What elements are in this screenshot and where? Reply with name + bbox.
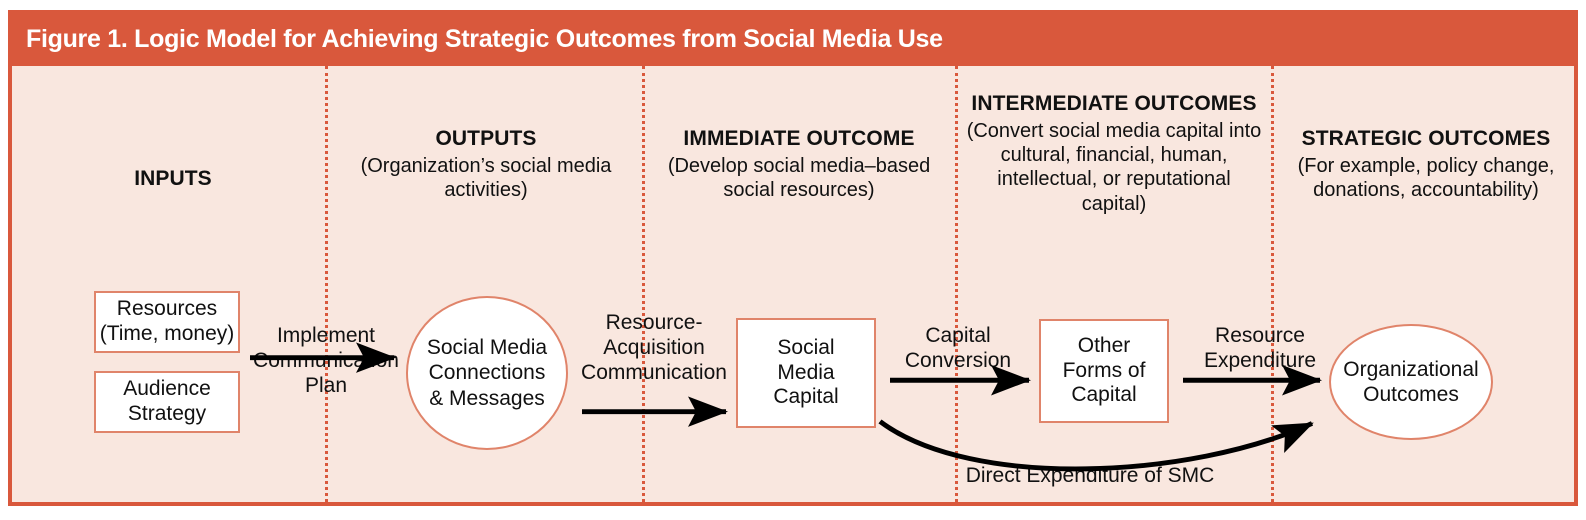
node-social-media-capital-label: Social Media Capital bbox=[738, 336, 874, 410]
edge-label-implement-plan: Implement Communication Plan bbox=[252, 324, 400, 398]
figure-title-bar: Figure 1. Logic Model for Achieving Stra… bbox=[12, 14, 1574, 66]
column-title-strategic: STRATEGIC OUTCOMES bbox=[1280, 126, 1572, 152]
edge-label-direct-expenditure: Direct Expenditure of SMC bbox=[942, 464, 1238, 488]
column-title-intermediate: INTERMEDIATE OUTCOMES bbox=[964, 91, 1264, 117]
node-social-media-capital: Social Media Capital bbox=[736, 318, 876, 428]
edge-label-resource-expenditure: Resource Expenditure bbox=[1188, 324, 1332, 374]
arrow-direct-expenditure bbox=[880, 421, 1312, 468]
node-social-media-connections: Social Media Connections & Messages bbox=[406, 296, 568, 450]
column-header-outputs: OUTPUTS (Organization’s social media act… bbox=[338, 126, 634, 202]
figure-panel: Figure 1. Logic Model for Achieving Stra… bbox=[8, 10, 1578, 506]
edge-label-capital-conversion: Capital Conversion bbox=[888, 324, 1028, 374]
node-audience-strategy: Audience Strategy bbox=[94, 371, 240, 433]
node-other-forms-of-capital: Other Forms of Capital bbox=[1039, 319, 1169, 423]
column-subtitle-outputs: (Organization’s social media activities) bbox=[338, 154, 634, 203]
column-subtitle-strategic: (For example, policy change, donations, … bbox=[1280, 154, 1572, 203]
node-resources: Resources (Time, money) bbox=[94, 291, 240, 353]
column-divider-4 bbox=[1271, 66, 1274, 502]
column-subtitle-intermediate: (Convert social media capital into cultu… bbox=[964, 119, 1264, 217]
column-header-strategic: STRATEGIC OUTCOMES (For example, policy … bbox=[1280, 126, 1572, 202]
edge-label-resource-acquisition: Resource- Acquisition Communication bbox=[578, 311, 730, 385]
node-organizational-outcomes-label: Organizational Outcomes bbox=[1327, 357, 1494, 407]
column-divider-3 bbox=[955, 66, 958, 502]
figure-canvas: INPUTS OUTPUTS (Organization’s social me… bbox=[12, 66, 1574, 502]
column-title-inputs: INPUTS bbox=[28, 166, 318, 192]
node-organizational-outcomes: Organizational Outcomes bbox=[1329, 324, 1493, 440]
column-header-immediate: IMMEDIATE OUTCOME (Develop social media–… bbox=[650, 126, 948, 202]
node-audience-strategy-label: Audience Strategy bbox=[96, 377, 238, 427]
column-subtitle-immediate: (Develop social media–based social resou… bbox=[650, 154, 948, 203]
node-resources-label: Resources (Time, money) bbox=[96, 297, 238, 347]
node-other-forms-of-capital-label: Other Forms of Capital bbox=[1041, 334, 1167, 408]
column-divider-1 bbox=[325, 66, 328, 502]
column-header-inputs: INPUTS bbox=[28, 166, 318, 194]
figure-root: Figure 1. Logic Model for Achieving Stra… bbox=[0, 0, 1586, 520]
node-social-media-connections-label: Social Media Connections & Messages bbox=[408, 335, 566, 411]
column-divider-2 bbox=[642, 66, 645, 502]
column-header-intermediate: INTERMEDIATE OUTCOMES (Convert social me… bbox=[964, 91, 1264, 216]
column-title-immediate: IMMEDIATE OUTCOME bbox=[650, 126, 948, 152]
column-title-outputs: OUTPUTS bbox=[338, 126, 634, 152]
figure-title: Figure 1. Logic Model for Achieving Stra… bbox=[26, 25, 943, 54]
